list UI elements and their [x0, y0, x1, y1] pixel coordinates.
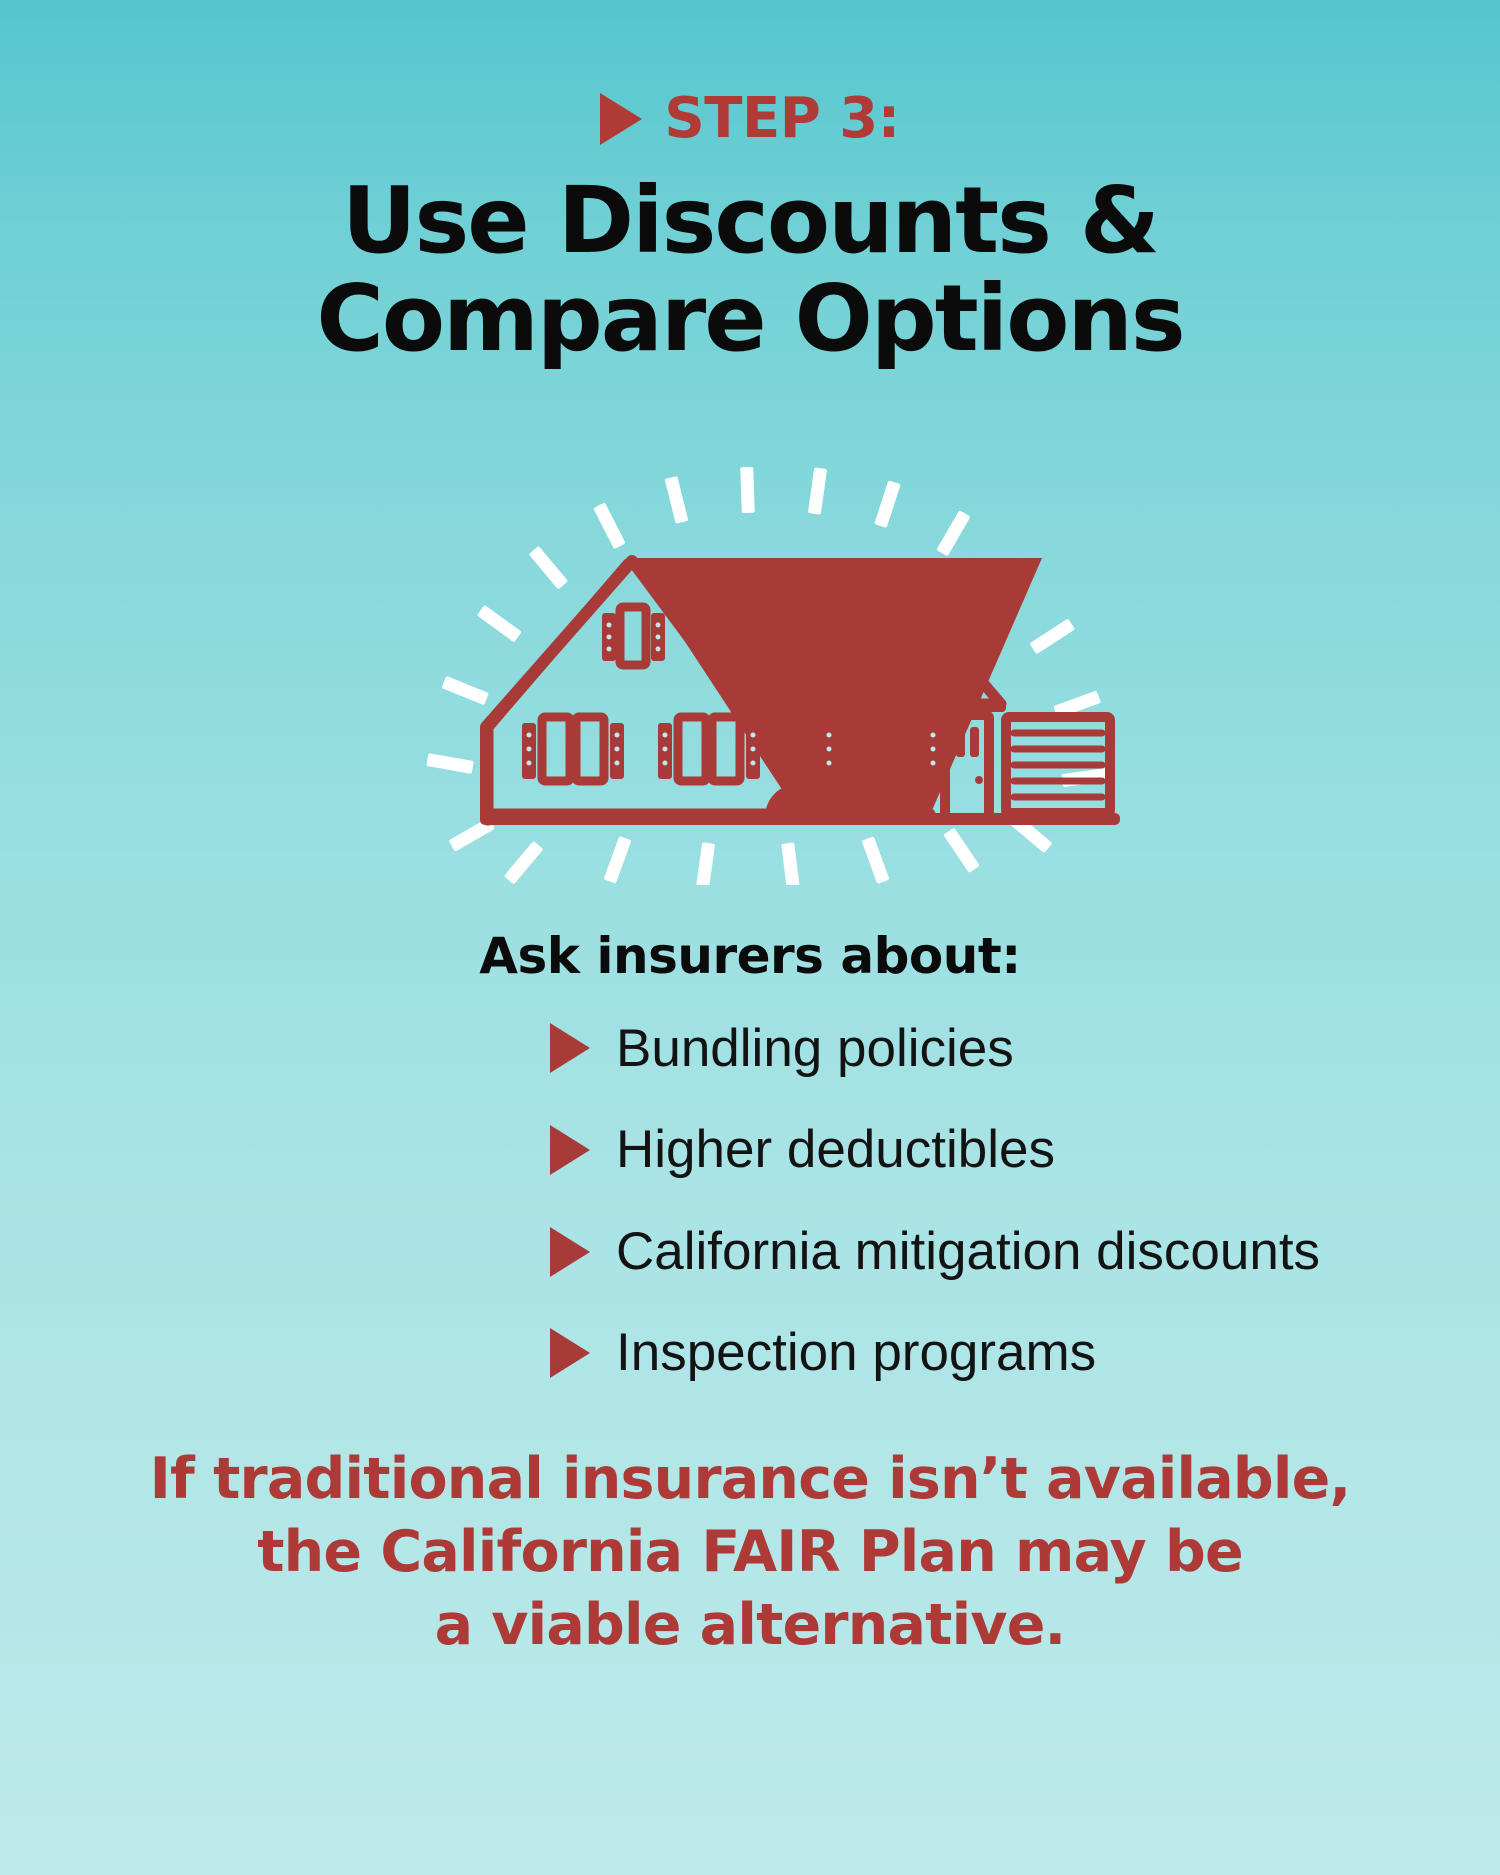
garage-door: [1006, 717, 1110, 813]
attic-window: [602, 607, 665, 665]
step-eyebrow: STEP 3:: [600, 88, 899, 150]
list-item-label: Bundling policies: [616, 1021, 1014, 1077]
list-item: California mitigation discounts: [550, 1224, 1280, 1280]
list-item: Higher deductibles: [550, 1122, 1280, 1178]
left-window: [522, 717, 624, 781]
title-line-1: Use Discounts &: [316, 172, 1183, 270]
infographic-poster: STEP 3: Use Discounts & Compare Options: [0, 0, 1500, 1875]
triangle-right-icon: [550, 1227, 590, 1277]
triangle-right-icon: [600, 93, 642, 145]
triangle-right-icon: [550, 1023, 590, 1073]
footer-line-1: If traditional insurance isn’t available…: [150, 1443, 1351, 1516]
triangle-right-icon: [550, 1125, 590, 1175]
title-line-2: Compare Options: [316, 270, 1183, 368]
list-item: Inspection programs: [550, 1325, 1280, 1381]
footer-line-2: the California FAIR Plan may be: [150, 1516, 1351, 1589]
list-item-label: Inspection programs: [616, 1325, 1096, 1381]
benefits-list: Bundling policies Higher deductibles Cal…: [220, 1021, 1280, 1382]
page-title: Use Discounts & Compare Options: [316, 172, 1183, 369]
list-item-label: California mitigation discounts: [616, 1224, 1320, 1280]
triangle-right-icon: [550, 1328, 590, 1378]
house-illustration: [370, 465, 1130, 885]
footer-line-3: a viable alternative.: [150, 1589, 1351, 1662]
list-item: Bundling policies: [550, 1021, 1280, 1077]
list-heading: Ask insurers about:: [479, 927, 1020, 985]
list-item-label: Higher deductibles: [616, 1122, 1055, 1178]
footer-callout: If traditional insurance isn’t available…: [150, 1443, 1351, 1662]
step-label: STEP 3:: [664, 91, 899, 147]
